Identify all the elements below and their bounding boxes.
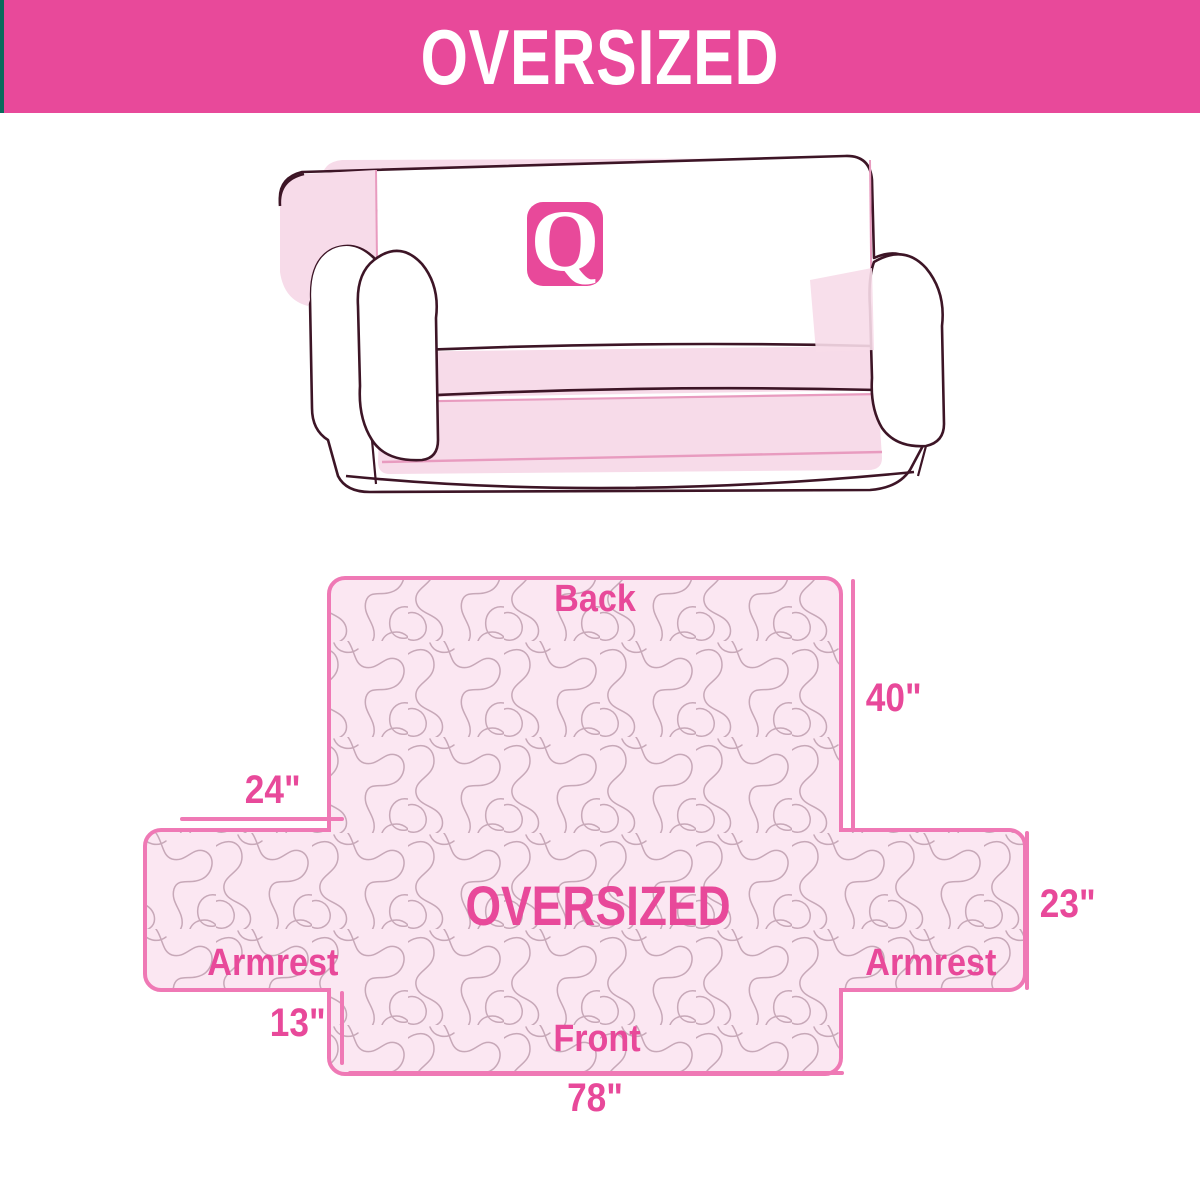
sofa-right-arm-inner bbox=[810, 268, 874, 352]
left-edge-accent-strip bbox=[0, 0, 4, 113]
panel-label-armrest-right: Armrest bbox=[865, 944, 996, 982]
size-chart-page: OVERSIZED bbox=[0, 0, 1200, 1200]
sofa-seat-front bbox=[378, 394, 882, 474]
sofa-drawing-svg: Q bbox=[250, 140, 980, 515]
measurement-label-armrest-length: 24" bbox=[245, 770, 301, 810]
page-title: OVERSIZED bbox=[421, 18, 780, 96]
sofa-illustration: Q bbox=[250, 140, 980, 515]
measurement-label-back-height: 40" bbox=[866, 678, 922, 718]
panel-label-back: Back bbox=[554, 580, 636, 618]
measurement-label-armrest-depth: 23" bbox=[1040, 884, 1096, 924]
sofa-left-arm-roll bbox=[358, 251, 438, 460]
measurement-label-front-drop: 13" bbox=[270, 1003, 326, 1043]
brand-logo-letter: Q bbox=[531, 193, 599, 290]
panel-label-armrest-left: Armrest bbox=[207, 944, 338, 982]
header-banner: OVERSIZED bbox=[0, 0, 1200, 113]
measurement-label-total-width: 78" bbox=[567, 1078, 623, 1118]
panel-label-front: Front bbox=[553, 1020, 640, 1058]
diagram-center-label: OVERSIZED bbox=[465, 878, 730, 934]
sofa-right-arm-roll bbox=[870, 254, 945, 446]
